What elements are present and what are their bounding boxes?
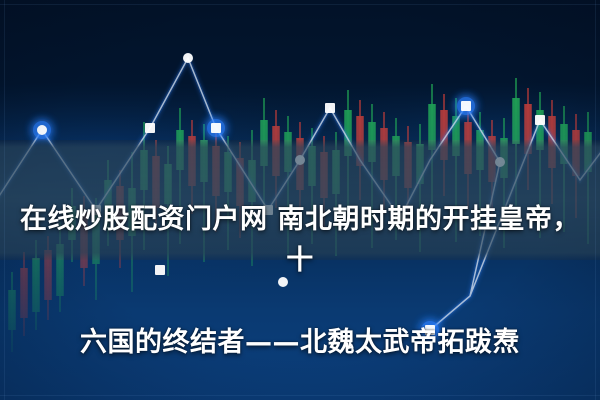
headline-line-1: 在线炒股配资门户网 南北朝时期的开挂皇帝，十 [20, 204, 580, 276]
border-line-top [0, 4, 600, 5]
headline-line-2: 六国的终结者——北魏太武帝拓跋焘 [80, 327, 520, 358]
border-line-bottom [0, 395, 600, 396]
border-line-left [4, 0, 5, 400]
page-title: 在线炒股配资门户网 南北朝时期的开挂皇帝，十 六国的终结者——北魏太武帝拓跋焘 [0, 158, 600, 363]
border-line-right [595, 0, 596, 400]
stock-banner-image: 在线炒股配资门户网 南北朝时期的开挂皇帝，十 六国的终结者——北魏太武帝拓跋焘 [0, 0, 600, 400]
